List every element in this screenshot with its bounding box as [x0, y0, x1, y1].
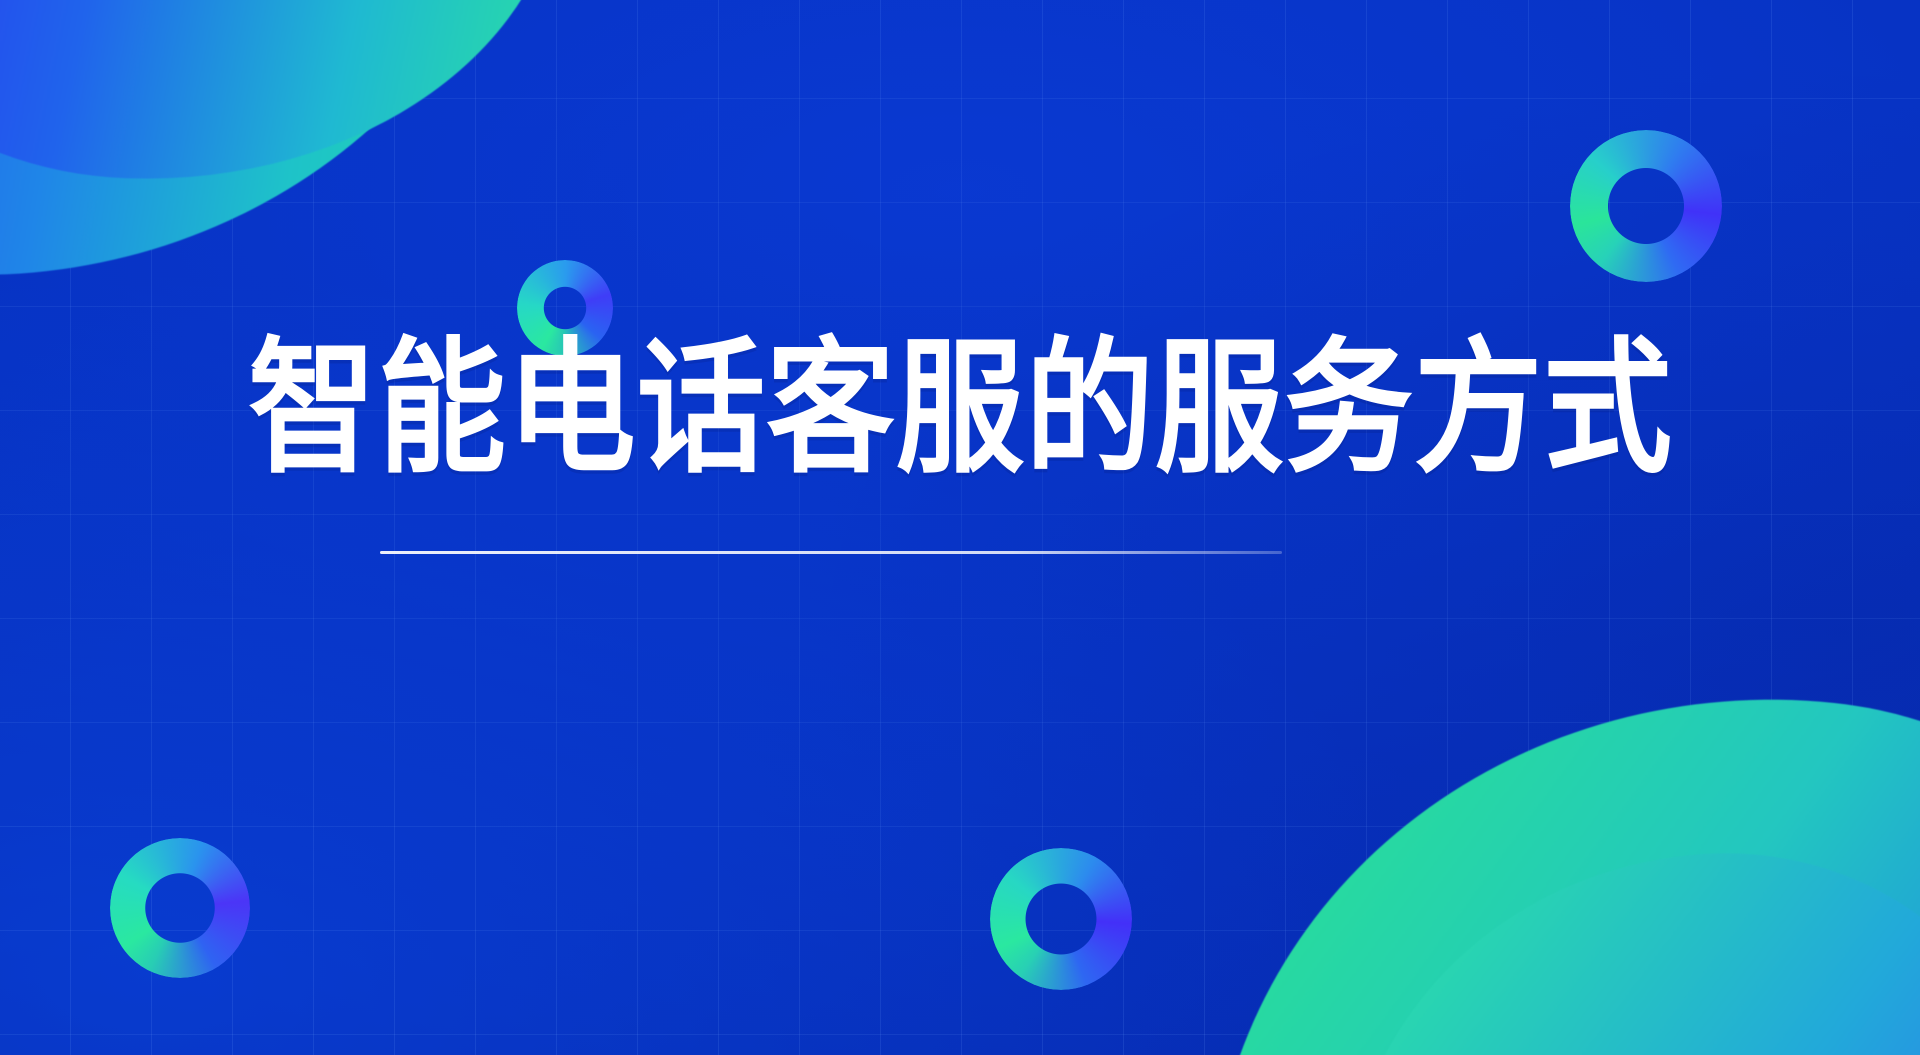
- ring-large-upper-right-icon: [1570, 130, 1722, 282]
- banner-canvas: 智能电话客服的服务方式: [0, 0, 1920, 1055]
- ring-medium-lower-center-icon: [990, 848, 1132, 990]
- title-container: 智能电话客服的服务方式: [0, 330, 1920, 466]
- title-underline: [380, 551, 1282, 554]
- ring-medium-lower-left-icon: [110, 838, 250, 978]
- page-title: 智能电话客服的服务方式: [248, 330, 1673, 488]
